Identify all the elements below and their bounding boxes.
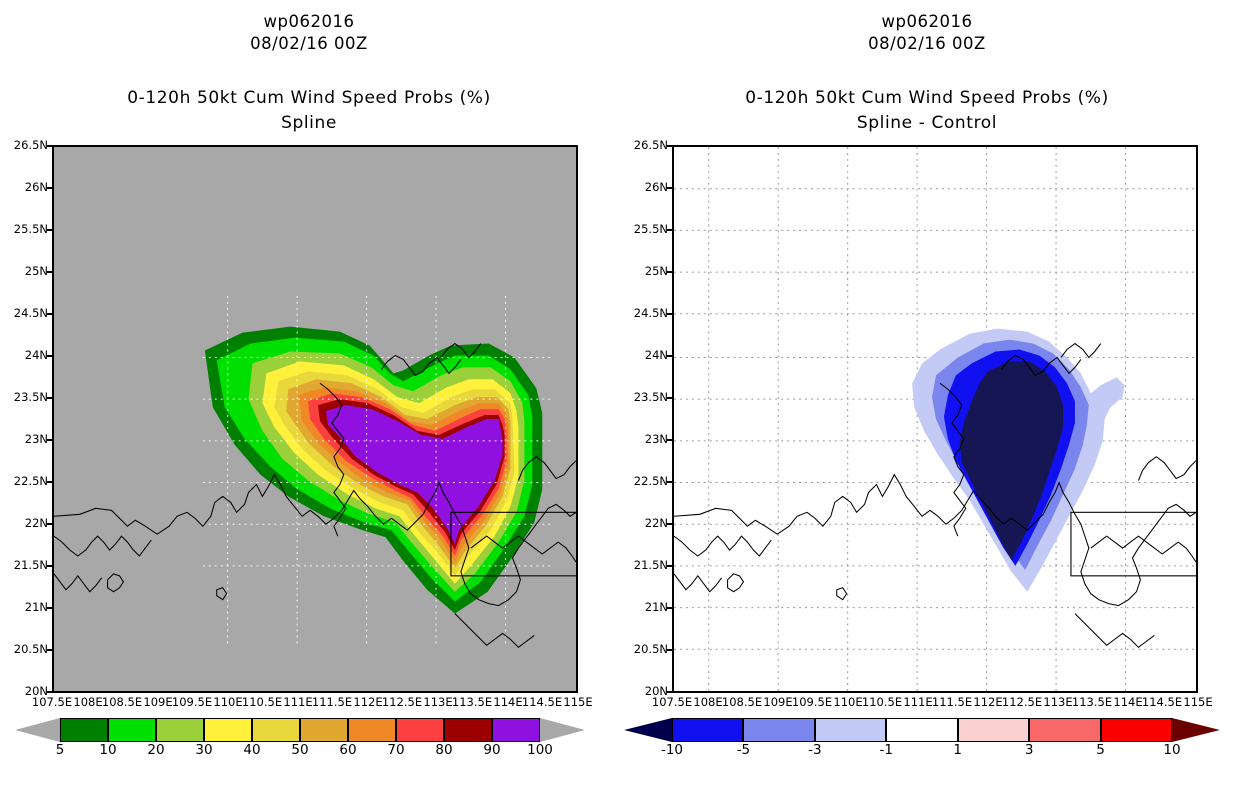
y-tick-label: 26N (2, 182, 48, 194)
colorbar-swatch (743, 718, 814, 742)
y-tick-label: 26N (622, 182, 668, 194)
colorbar-swatch (348, 718, 396, 742)
colorbar-tick-label: 60 (328, 744, 368, 758)
colorbar-swatch (204, 718, 252, 742)
colorbar-tick-label: 10 (88, 744, 128, 758)
chart-title-left: 0-120h 50kt Cum Wind Speed Probs (%) (0, 88, 618, 108)
colorbar-swatch (492, 718, 540, 742)
colorbar-swatch (60, 718, 108, 742)
panel-spline-minus-control: wp062016 08/02/16 00Z 0-120h 50kt Cum Wi… (618, 0, 1236, 800)
y-tick-label: 21N (2, 602, 48, 614)
colorbar-tick-label: 3 (1009, 744, 1049, 758)
y-tick-label: 21N (622, 602, 668, 614)
chart-subtitle-right: Spline - Control (618, 113, 1236, 133)
y-tick-label: 25N (622, 266, 668, 278)
colorbar-probability[interactable]: 5102030405060708090100 (60, 718, 540, 742)
colorbar-swatch (252, 718, 300, 742)
y-tick-label: 25.5N (622, 224, 668, 236)
chart-subtitle-left: Spline (0, 113, 618, 133)
colorbar-swatch (1029, 718, 1100, 742)
date-right: 08/02/16 00Z (618, 34, 1236, 53)
colorbar-tick-label: 90 (472, 744, 512, 758)
y-tick-label: 22N (2, 518, 48, 530)
x-tick-label: 115E (1173, 697, 1223, 709)
y-tick-label: 23N (622, 434, 668, 446)
colorbar-tick-label: -10 (652, 744, 692, 758)
colorbar-tick-label: 100 (520, 744, 560, 758)
map-graphics-right (674, 147, 1196, 691)
storm-id-left: wp062016 (0, 12, 618, 31)
colorbar-neg-arrow (624, 718, 672, 742)
y-tick-label: 25N (2, 266, 48, 278)
y-tick-label: 20.5N (2, 644, 48, 656)
y-tick-label: 26.5N (622, 140, 668, 152)
colorbar-swatch (672, 718, 743, 742)
map-plot-spline[interactable] (52, 145, 578, 693)
colorbar-tick-label: -3 (795, 744, 835, 758)
y-tick-label: 24.5N (2, 308, 48, 320)
panel-spline: wp062016 08/02/16 00Z 0-120h 50kt Cum Wi… (0, 0, 618, 800)
colorbar-swatch (886, 718, 957, 742)
date-left: 08/02/16 00Z (0, 34, 618, 53)
y-tick-label: 24N (2, 350, 48, 362)
colorbar-swatch (444, 718, 492, 742)
colorbar-tick-label: 50 (280, 744, 320, 758)
y-tick-label: 21.5N (622, 560, 668, 572)
storm-id-right: wp062016 (618, 12, 1236, 31)
colorbar-high-arrow (540, 718, 585, 742)
y-tick-label: 23N (2, 434, 48, 446)
y-tick-label: 23.5N (622, 392, 668, 404)
colorbar-tick-label: 30 (184, 744, 224, 758)
colorbar-tick-label: 40 (232, 744, 272, 758)
colorbar-swatch (108, 718, 156, 742)
y-tick-label: 24.5N (622, 308, 668, 320)
y-tick-label: 21.5N (2, 560, 48, 572)
colorbar-tick-label: 5 (1081, 744, 1121, 758)
colorbar-tick-label: -5 (723, 744, 763, 758)
colorbar-tick-label: 1 (938, 744, 978, 758)
colorbar-swatch (958, 718, 1029, 742)
y-tick-label: 22.5N (622, 476, 668, 488)
colorbar-difference[interactable]: -10-5-3-113510 (672, 718, 1172, 742)
colorbar-swatch (815, 718, 886, 742)
colorbar-tick-label: 80 (424, 744, 464, 758)
colorbar-tick-label: 70 (376, 744, 416, 758)
map-graphics-left (54, 147, 576, 691)
colorbar-tick-label: 20 (136, 744, 176, 758)
colorbar-tick-label: 10 (1152, 744, 1192, 758)
y-tick-label: 20.5N (622, 644, 668, 656)
map-plot-difference[interactable] (672, 145, 1198, 693)
colorbar-pos-arrow (1172, 718, 1220, 742)
y-tick-label: 22.5N (2, 476, 48, 488)
colorbar-tick-label: -1 (866, 744, 906, 758)
colorbar-swatch (300, 718, 348, 742)
colorbar-swatch (1101, 718, 1172, 742)
y-tick-label: 25.5N (2, 224, 48, 236)
y-tick-label: 24N (622, 350, 668, 362)
y-tick-label: 22N (622, 518, 668, 530)
x-tick-label: 115E (553, 697, 603, 709)
y-tick-label: 23.5N (2, 392, 48, 404)
y-tick-label: 26.5N (2, 140, 48, 152)
colorbar-tick-label: 5 (40, 744, 80, 758)
colorbar-swatch (156, 718, 204, 742)
colorbar-low-arrow (15, 718, 60, 742)
chart-title-right: 0-120h 50kt Cum Wind Speed Probs (%) (618, 88, 1236, 108)
colorbar-swatch (396, 718, 444, 742)
